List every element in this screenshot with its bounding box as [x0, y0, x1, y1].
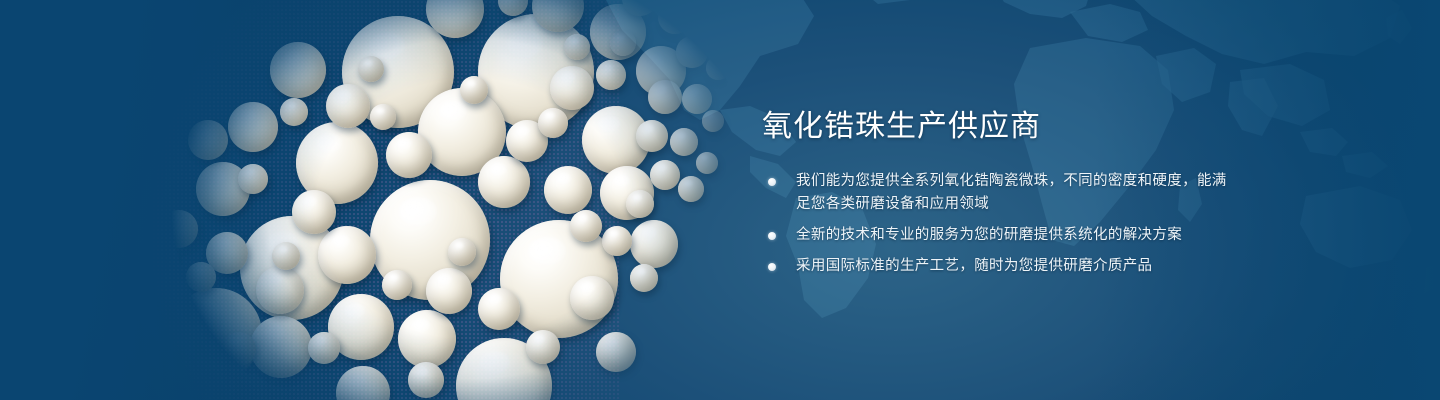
banner-text-block: 氧化锆珠生产供应商 我们能为您提供全系列氧化锆陶瓷微珠，不同的密度和硬度，能满足…: [762, 0, 1282, 400]
bead: [270, 42, 326, 98]
bead: [670, 128, 698, 156]
bullet-dot-icon: [768, 178, 776, 186]
bead: [682, 84, 712, 114]
bead: [256, 266, 304, 314]
bullet-dot-icon: [768, 232, 776, 240]
bullet-dot-icon: [768, 263, 776, 271]
bead: [318, 226, 376, 284]
bead: [448, 238, 476, 266]
bead: [228, 102, 278, 152]
bead: [602, 226, 632, 256]
bead: [570, 276, 614, 320]
bead: [382, 270, 412, 300]
list-item: 全新的技术和专业的服务为您的研磨提供系统化的解决方案: [766, 224, 1236, 247]
bead: [426, 268, 472, 314]
bead: [154, 248, 178, 272]
bead: [238, 164, 268, 194]
list-item-label: 采用国际标准的生产工艺，随时为您提供研磨介质产品: [796, 255, 1236, 278]
bead: [222, 332, 256, 366]
selling-points-list: 我们能为您提供全系列氧化锆陶瓷微珠，不同的密度和硬度，能满足您各类研磨设备和应用…: [766, 170, 1236, 286]
bead: [478, 156, 530, 208]
list-item: 采用国际标准的生产工艺，随时为您提供研磨介质产品: [766, 255, 1236, 278]
list-item: 我们能为您提供全系列氧化锆陶瓷微珠，不同的密度和硬度，能满足您各类研磨设备和应用…: [766, 170, 1236, 216]
bead: [250, 316, 312, 378]
bead: [186, 262, 216, 292]
bead: [696, 152, 718, 174]
hero-banner: 氧化锆珠生产供应商 我们能为您提供全系列氧化锆陶瓷微珠，不同的密度和硬度，能满足…: [0, 0, 1440, 400]
bead: [326, 84, 370, 128]
bead: [498, 0, 528, 16]
bead: [636, 120, 668, 152]
bead: [702, 110, 724, 132]
bead: [690, 0, 716, 6]
bead: [526, 330, 560, 364]
bead: [408, 362, 444, 398]
bead: [358, 56, 384, 82]
bead: [706, 56, 730, 80]
bead: [538, 108, 568, 138]
bead: [630, 264, 658, 292]
bead: [188, 120, 228, 160]
bead: [650, 160, 680, 190]
bead: [630, 220, 678, 268]
bead: [292, 190, 336, 234]
bead: [550, 66, 594, 110]
bead: [272, 242, 300, 270]
bead: [308, 332, 340, 364]
bead: [658, 0, 692, 34]
bead: [610, 30, 636, 56]
bead: [570, 210, 602, 242]
bead: [280, 98, 308, 126]
bead: [336, 366, 390, 400]
bead: [596, 332, 636, 372]
bead: [648, 80, 682, 114]
bead: [370, 104, 396, 130]
bead: [676, 36, 708, 68]
list-item-label: 全新的技术和专业的服务为您的研磨提供系统化的解决方案: [796, 224, 1236, 247]
bead: [544, 166, 592, 214]
zirconia-beads-image: [130, 0, 750, 400]
page-title: 氧化锆珠生产供应商: [762, 108, 1041, 146]
bead: [596, 60, 626, 90]
bead: [160, 210, 198, 248]
list-item-label: 我们能为您提供全系列氧化锆陶瓷微珠，不同的密度和硬度，能满足您各类研磨设备和应用…: [796, 170, 1236, 216]
bead: [460, 76, 488, 104]
bead: [386, 132, 432, 178]
bead: [626, 190, 654, 218]
bead: [478, 288, 520, 330]
bead: [678, 176, 704, 202]
bead: [564, 34, 590, 60]
bead: [398, 310, 456, 368]
